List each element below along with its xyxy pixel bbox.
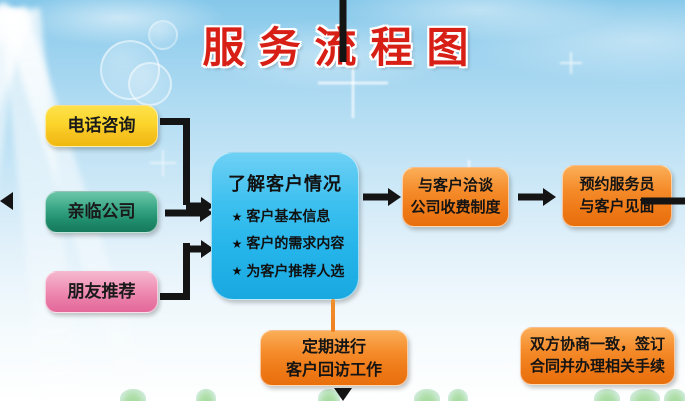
- node-friend-referral[interactable]: 朋友推荐: [45, 271, 158, 313]
- list-item-label: 客户基本信息: [246, 207, 330, 227]
- sparkle-icon: [318, 48, 388, 118]
- node-booking-meeting-line1: 预约服务员: [579, 174, 654, 196]
- arrow-booking-to-signing: [0, 0, 20, 74]
- node-phone-consultation[interactable]: 电话咨询: [45, 105, 158, 147]
- node-negotiate-fee-line2: 公司收费制度: [410, 197, 500, 219]
- node-contract-signing[interactable]: 双方协商一致，签订 合同并办理相关手续: [520, 327, 675, 385]
- star-icon: ★: [232, 209, 243, 226]
- list-item: ★ 客户基本信息: [232, 207, 331, 227]
- node-understand-customer-heading: 了解客户情况: [228, 172, 342, 198]
- sparkle-icon: [150, 150, 176, 176]
- node-periodic-revisit-line2: 客户回访工作: [286, 358, 382, 381]
- arrow-main-to-fee: [363, 187, 401, 207]
- node-booking-meeting[interactable]: 预约服务员 与客户见面: [562, 165, 672, 227]
- node-periodic-revisit[interactable]: 定期进行 客户回访工作: [260, 330, 408, 386]
- arrow-friend-to-main: [186, 239, 214, 259]
- service-flowchart-poster: 服务流程图 电话咨询 亲临公司 朋友推荐 了解客户情况 ★ 客户基本信息: [0, 0, 685, 401]
- node-periodic-revisit-line1: 定期进行: [302, 335, 366, 358]
- node-contract-signing-line2: 合同并办理相关手续: [530, 356, 665, 378]
- sparkle-icon: [560, 52, 582, 74]
- node-negotiate-fee-line1: 与客户洽谈: [418, 175, 493, 197]
- list-item-label: 客户的需求内容: [246, 234, 344, 254]
- node-understand-customer-bullets: ★ 客户基本信息 ★ 客户的需求内容 ★ 为客户推荐人选: [226, 207, 345, 282]
- node-visit-company[interactable]: 亲临公司: [45, 191, 158, 233]
- node-phone-consultation-label: 电话咨询: [68, 114, 136, 139]
- star-icon: ★: [232, 263, 243, 280]
- star-icon: ★: [232, 236, 243, 253]
- arrow-fee-to-booking: [518, 187, 556, 207]
- arrow-signing-to-revisit: [0, 74, 56, 94]
- connector-main-to-revisit: [331, 299, 335, 332]
- node-visit-company-label: 亲临公司: [68, 200, 136, 225]
- list-item-label: 为客户推荐人选: [246, 262, 344, 282]
- node-negotiate-fee[interactable]: 与客户洽谈 公司收费制度: [402, 167, 509, 227]
- node-friend-referral-label: 朋友推荐: [68, 280, 136, 305]
- list-item: ★ 客户的需求内容: [232, 234, 345, 254]
- node-contract-signing-line1: 双方协商一致，签订: [530, 334, 665, 356]
- arrow-visit-to-main: [165, 203, 213, 223]
- list-item: ★ 为客户推荐人选: [232, 262, 345, 282]
- node-understand-customer[interactable]: 了解客户情况 ★ 客户基本信息 ★ 客户的需求内容 ★ 为客户推荐人选: [211, 152, 359, 300]
